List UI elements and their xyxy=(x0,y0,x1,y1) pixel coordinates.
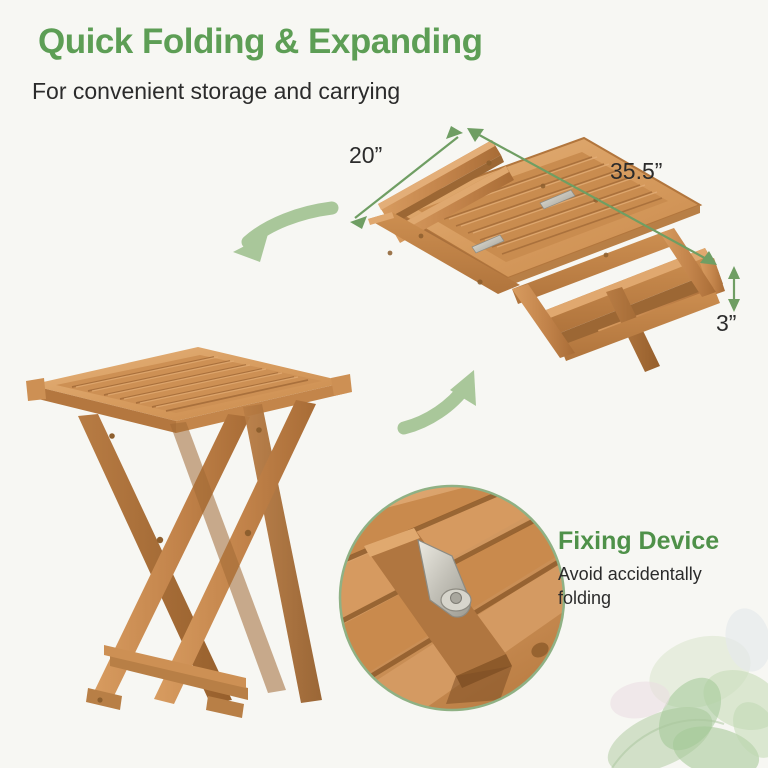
folded-table-photo xyxy=(368,138,725,372)
infographic-canvas: Quick Folding & Expanding For convenient… xyxy=(0,0,768,768)
page-title: Quick Folding & Expanding xyxy=(38,22,482,62)
dimension-arrow-3 xyxy=(728,266,740,312)
watercolor-foliage-decoration xyxy=(598,604,768,768)
feature-title: Fixing Device xyxy=(558,527,719,556)
curved-arrow-up-right-icon xyxy=(404,370,476,428)
dimension-label-width: 20” xyxy=(349,142,382,169)
dimension-label-height: 3” xyxy=(716,310,736,337)
open-folding-table-photo xyxy=(26,347,352,718)
fixing-device-closeup-photo xyxy=(340,486,580,712)
feature-description: Avoid accidentally folding xyxy=(558,562,748,611)
product-illustration-layer xyxy=(0,0,768,768)
dimension-label-length: 35.5” xyxy=(610,158,662,185)
page-subtitle: For convenient storage and carrying xyxy=(32,78,400,105)
curved-arrow-down-left-icon xyxy=(233,208,332,262)
